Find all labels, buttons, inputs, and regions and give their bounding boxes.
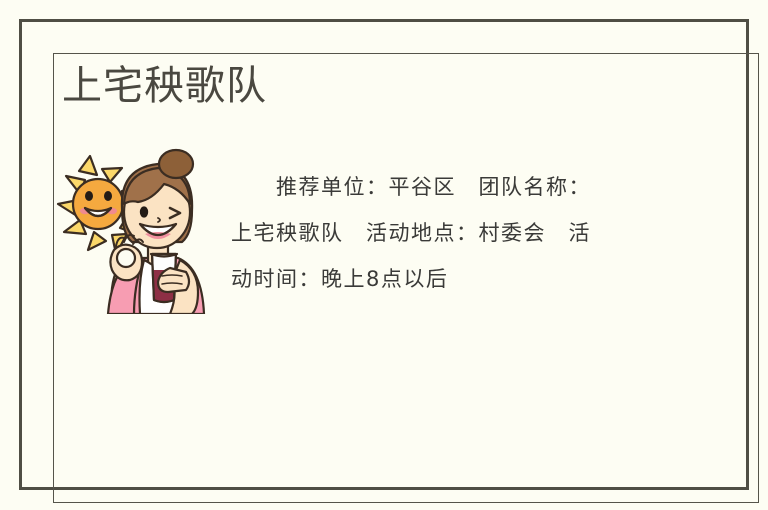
page-title: 上宅秧歌队 (62, 62, 267, 110)
page-root: 上宅秧歌队 (0, 0, 768, 510)
illustration-woman-with-juice-and-sun (52, 142, 224, 314)
activity-details-text: 推荐单位：平谷区 团队名称：上宅秧歌队 活动地点：村委会 活动时间：晚上8点以后 (231, 164, 609, 302)
woman-figure (108, 150, 204, 314)
